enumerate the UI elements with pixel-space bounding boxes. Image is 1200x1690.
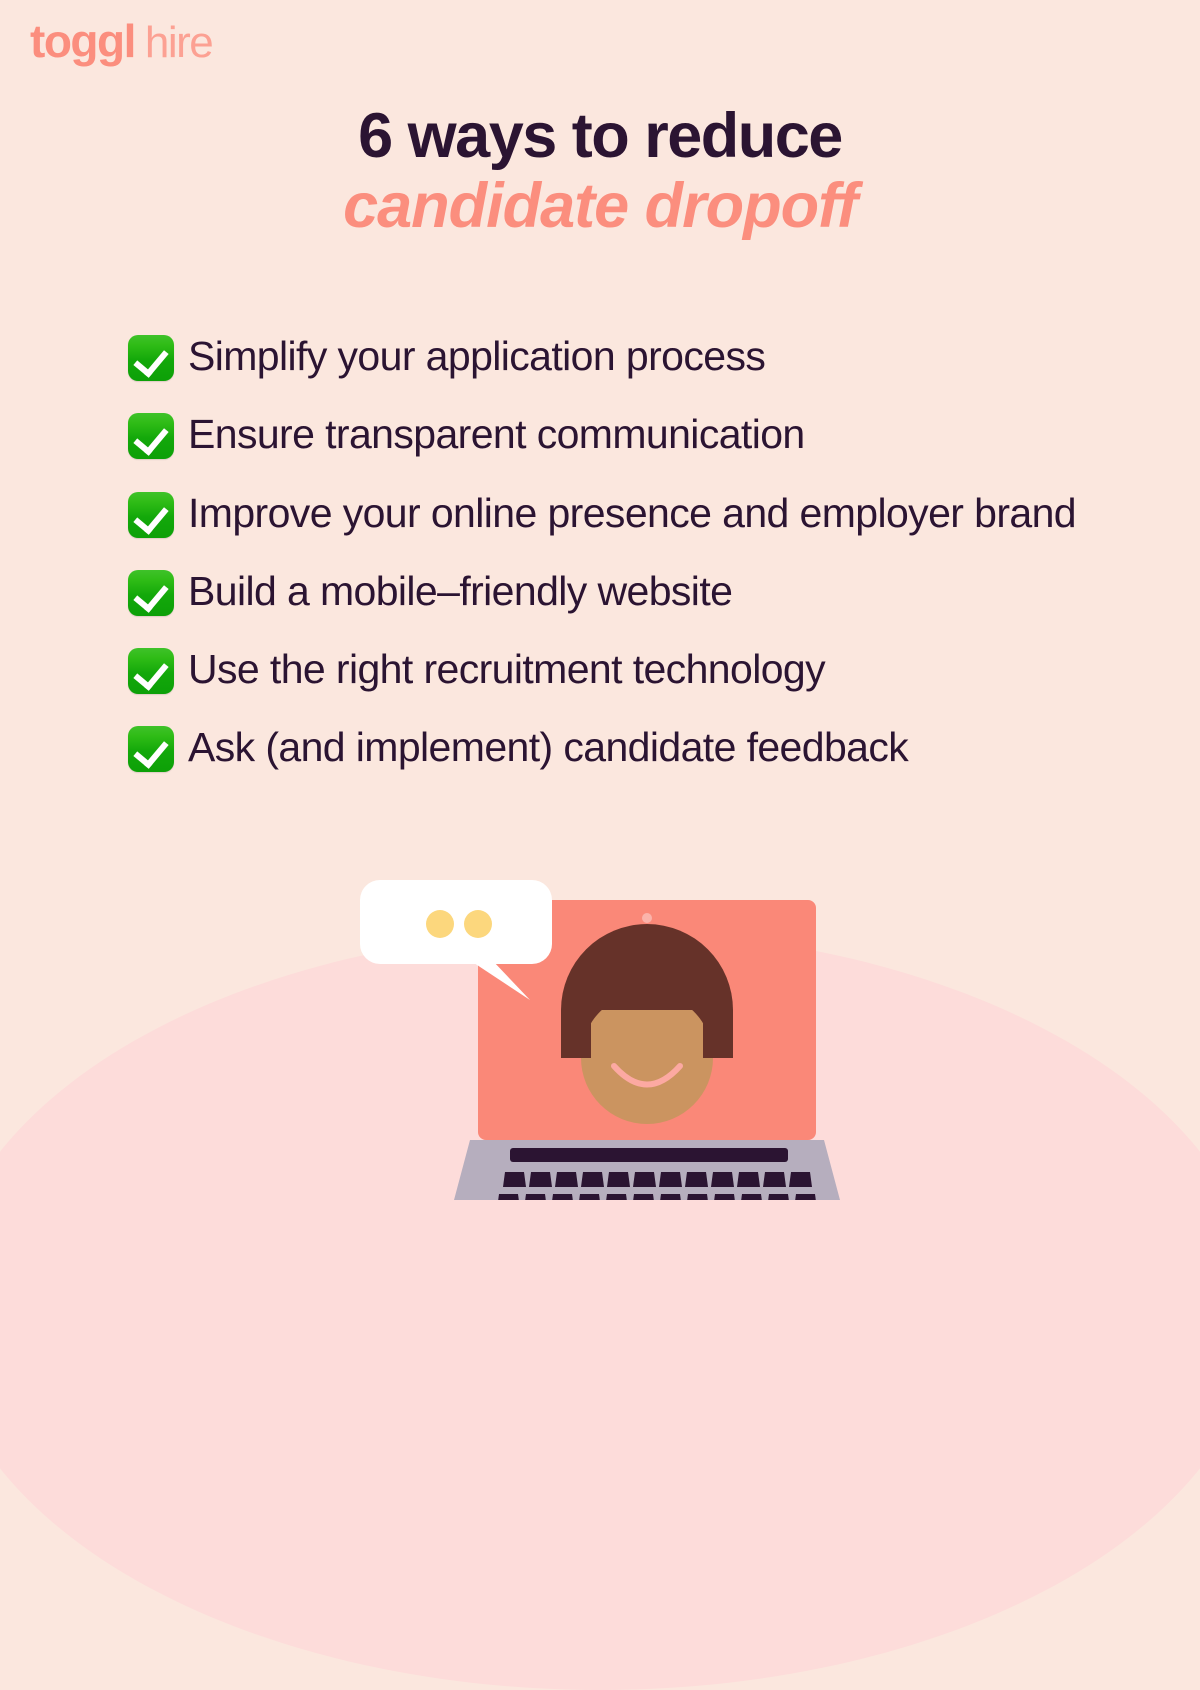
list-item-label: Simplify your application process <box>188 330 765 383</box>
list-item-label: Improve your online presence and employe… <box>188 487 1076 540</box>
laptop-spacebar <box>510 1148 788 1162</box>
list-item-label: Ask (and implement) candidate feedback <box>188 721 908 774</box>
speech-bubble-dot <box>464 910 492 938</box>
green-check-icon <box>128 648 174 694</box>
list-item-label: Ensure transparent communication <box>188 408 805 461</box>
laptop-video-call-illustration <box>0 860 1200 1200</box>
laptop-webcam-icon <box>642 913 652 923</box>
checklist: Simplify your application process Ensure… <box>128 330 1118 800</box>
toggl-hire-logo[interactable]: toggl hire <box>30 18 212 65</box>
green-check-icon <box>128 570 174 616</box>
list-item: Simplify your application process <box>128 330 1118 383</box>
green-check-icon <box>128 726 174 772</box>
headline-line-2: candidate dropoff <box>0 168 1200 245</box>
list-item: Build a mobile–friendly website <box>128 565 1118 618</box>
green-check-icon <box>128 335 174 381</box>
avatar-hair-right <box>703 1010 733 1058</box>
green-check-icon <box>128 413 174 459</box>
list-item: Ask (and implement) candidate feedback <box>128 721 1118 774</box>
avatar-face <box>581 992 713 1124</box>
list-item-label: Use the right recruitment technology <box>188 643 825 696</box>
speech-bubble-body <box>360 880 552 964</box>
avatar-hair-left <box>561 1010 591 1058</box>
list-item: Improve your online presence and employe… <box>128 487 1118 540</box>
list-item-label: Build a mobile–friendly website <box>188 565 732 618</box>
logo-primary-text: toggl <box>30 18 135 64</box>
speech-bubble-dot <box>426 910 454 938</box>
page-title: 6 ways to reduce candidate dropoff <box>0 105 1200 245</box>
green-check-icon <box>128 492 174 538</box>
list-item: Ensure transparent communication <box>128 408 1118 461</box>
logo-secondary-text: hire <box>145 21 212 65</box>
list-item: Use the right recruitment technology <box>128 643 1118 696</box>
headline-line-1: 6 ways to reduce <box>0 105 1200 168</box>
